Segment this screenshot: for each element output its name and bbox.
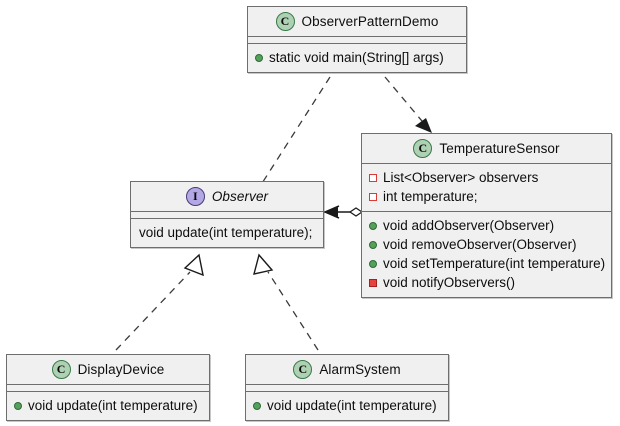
public-marker-icon xyxy=(369,241,377,249)
uml-diagram-canvas: C ObserverPatternDemo static void main(S… xyxy=(0,0,620,426)
attributes-compartment-empty xyxy=(248,37,466,44)
relationship-displaydevice-realizes-observer xyxy=(116,255,203,350)
class-box-display-device[interactable]: C DisplayDevice void update(int temperat… xyxy=(6,354,210,421)
class-stereotype-icon: C xyxy=(276,12,295,31)
attributes-compartment-empty xyxy=(246,385,448,392)
class-stereotype-icon: C xyxy=(413,139,432,158)
private-method-marker-icon xyxy=(369,279,377,287)
interface-header: I Observer xyxy=(131,182,323,212)
methods-compartment: static void main(String[] args) xyxy=(248,44,466,72)
method-row[interactable]: void addObserver(Observer) xyxy=(369,216,604,235)
class-name: AlarmSystem xyxy=(319,362,400,377)
method-row[interactable]: void setTemperature(int temperature) xyxy=(369,254,604,273)
method-signature: void update(int temperature) xyxy=(267,396,437,415)
class-name: TemperatureSensor xyxy=(439,141,559,156)
class-stereotype-icon: C xyxy=(293,360,312,379)
relationship-alarmsystem-realizes-observer xyxy=(254,255,318,350)
field-signature: int temperature; xyxy=(383,187,478,206)
method-row[interactable]: void update(int temperature); xyxy=(138,223,316,242)
method-signature: void addObserver(Observer) xyxy=(383,216,554,235)
method-signature: void update(int temperature); xyxy=(139,223,312,242)
method-signature: void removeObserver(Observer) xyxy=(383,235,577,254)
attributes-compartment: List<Observer> observers int temperature… xyxy=(362,164,611,211)
method-signature: static void main(String[] args) xyxy=(269,48,444,67)
private-field-marker-icon xyxy=(369,174,377,182)
methods-compartment: void update(int temperature) xyxy=(246,392,448,420)
class-header: C ObserverPatternDemo xyxy=(248,7,466,37)
method-row[interactable]: void update(int temperature) xyxy=(253,396,441,415)
method-signature: void update(int temperature) xyxy=(28,396,198,415)
relationship-sensor-to-observer xyxy=(324,206,362,218)
class-header: C TemperatureSensor xyxy=(362,134,611,164)
interface-stereotype-icon: I xyxy=(186,187,205,206)
field-signature: List<Observer> observers xyxy=(383,168,538,187)
class-box-alarm-system[interactable]: C AlarmSystem void update(int temperatur… xyxy=(245,354,449,421)
class-header: C AlarmSystem xyxy=(246,355,448,385)
method-row[interactable]: void notifyObservers() xyxy=(369,273,604,292)
method-row[interactable]: void update(int temperature) xyxy=(14,396,202,415)
field-row[interactable]: List<Observer> observers xyxy=(369,168,604,187)
interface-box-observer[interactable]: I Observer void update(int temperature); xyxy=(130,181,324,248)
attributes-compartment-empty xyxy=(131,212,323,219)
method-row[interactable]: void removeObserver(Observer) xyxy=(369,235,604,254)
interface-name: Observer xyxy=(212,189,268,204)
relationship-demo-to-sensor xyxy=(385,77,432,133)
public-marker-icon xyxy=(255,54,263,62)
field-row[interactable]: int temperature; xyxy=(369,187,604,206)
methods-compartment: void update(int temperature) xyxy=(7,392,209,420)
class-name: DisplayDevice xyxy=(78,362,165,377)
class-box-observer-pattern-demo[interactable]: C ObserverPatternDemo static void main(S… xyxy=(247,6,467,73)
class-stereotype-icon: C xyxy=(52,360,71,379)
public-marker-icon xyxy=(369,222,377,230)
method-signature: void setTemperature(int temperature) xyxy=(383,254,605,273)
method-row[interactable]: static void main(String[] args) xyxy=(255,48,459,67)
public-marker-icon xyxy=(14,402,22,410)
public-marker-icon xyxy=(369,260,377,268)
attributes-compartment-empty xyxy=(7,385,209,392)
class-header: C DisplayDevice xyxy=(7,355,209,385)
public-marker-icon xyxy=(253,402,261,410)
class-name: ObserverPatternDemo xyxy=(302,14,439,29)
methods-compartment: void addObserver(Observer) void removeOb… xyxy=(362,211,611,297)
methods-compartment: void update(int temperature); xyxy=(131,219,323,247)
private-field-marker-icon xyxy=(369,193,377,201)
class-box-temperature-sensor[interactable]: C TemperatureSensor List<Observer> obser… xyxy=(361,133,612,298)
method-signature: void notifyObservers() xyxy=(383,273,515,292)
